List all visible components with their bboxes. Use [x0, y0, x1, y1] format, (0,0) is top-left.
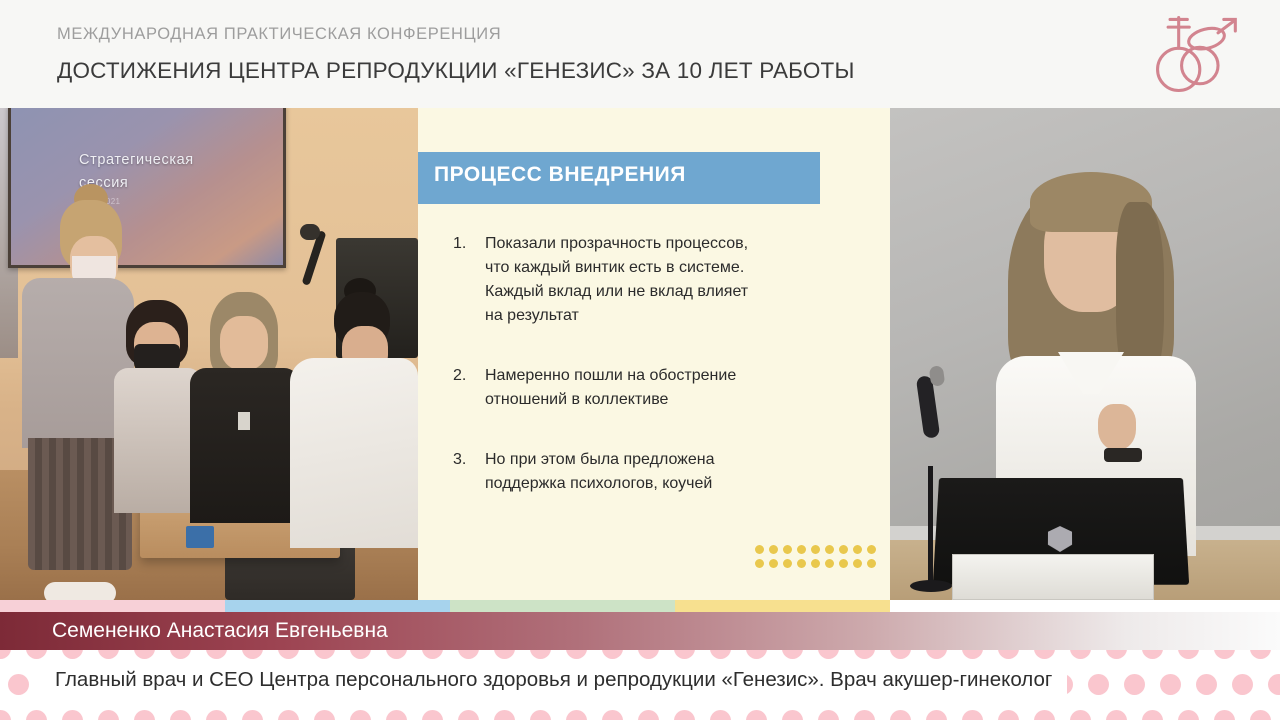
polka-dot [8, 674, 29, 695]
list-item-number: 1. [453, 232, 485, 328]
polka-dot [566, 710, 587, 720]
polka-dot [926, 710, 947, 720]
slide-title: ПРОЦЕСС ВНЕДРЕНИЯ [434, 163, 686, 187]
polka-dot [782, 650, 803, 659]
polka-dot [422, 710, 443, 720]
polka-dot [494, 710, 515, 720]
polka-dot [98, 710, 119, 720]
broadcast-screen: МЕЖДУНАРОДНАЯ ПРАКТИЧЕСКАЯ КОНФЕРЕНЦИЯ Д… [0, 0, 1280, 720]
table-sticker [186, 526, 214, 548]
polka-dot [170, 650, 191, 659]
polka-dot [1106, 650, 1127, 659]
slide-numbered-list: 1. Показали прозрачность процессов, что … [453, 232, 853, 532]
decorative-dot [853, 545, 862, 554]
decorative-dot [783, 545, 792, 554]
polka-dot [1250, 650, 1271, 659]
polka-dot [854, 710, 875, 720]
speaker-title-bar: Главный врач и CEO Центра персонального … [0, 650, 1280, 720]
polka-dot [674, 710, 695, 720]
slide-title-bar: ПРОЦЕСС ВНЕДРЕНИЯ [418, 152, 820, 204]
decorative-dot [839, 545, 848, 554]
polka-dot [1070, 710, 1091, 720]
polka-dot [314, 710, 335, 720]
polka-dot [1088, 674, 1109, 695]
decorative-dot [825, 559, 834, 568]
polka-dot [170, 710, 191, 720]
polka-dot [386, 650, 407, 659]
decorative-dot [797, 545, 806, 554]
polka-dot [314, 650, 335, 659]
decorative-dot [853, 559, 862, 568]
polka-dot [206, 710, 227, 720]
polka-dot [134, 710, 155, 720]
polka-dot [1142, 710, 1163, 720]
gender-symbols-logo-icon [1146, 6, 1244, 102]
polka-dot [530, 710, 551, 720]
decorative-dot [811, 545, 820, 554]
polka-dot [962, 710, 983, 720]
decorative-dot [783, 559, 792, 568]
projector-text-line1: Стратегическая [79, 152, 194, 168]
polka-dot [1178, 710, 1199, 720]
polka-dot [530, 650, 551, 659]
color-strip-segment-1 [225, 600, 450, 612]
polka-dot [602, 650, 623, 659]
polka-dot [1178, 650, 1199, 659]
polka-dot [26, 650, 47, 659]
decorative-dot [867, 545, 876, 554]
decorative-dot [867, 559, 876, 568]
polka-dot [1250, 710, 1271, 720]
list-item-number: 3. [453, 448, 485, 496]
slide-decorative-dots [755, 545, 881, 573]
decorative-dot [839, 559, 848, 568]
polka-dot [854, 650, 875, 659]
polka-dot [746, 710, 767, 720]
list-item-text: Но при этом была предложена поддержка пс… [485, 448, 715, 496]
presentation-slide: ПРОЦЕСС ВНЕДРЕНИЯ 1. Показали прозрачнос… [418, 108, 890, 600]
header-bar: МЕЖДУНАРОДНАЯ ПРАКТИЧЕСКАЯ КОНФЕРЕНЦИЯ Д… [0, 0, 1280, 108]
polka-dot [602, 710, 623, 720]
polka-dot [26, 710, 47, 720]
polka-dot [1124, 674, 1145, 695]
polka-dot [566, 650, 587, 659]
polka-dot [1070, 650, 1091, 659]
polka-dot [242, 650, 263, 659]
polka-dot [710, 710, 731, 720]
polka-dot [278, 710, 299, 720]
polka-dot [494, 650, 515, 659]
speaker-hand [1098, 404, 1136, 450]
polka-dot [674, 650, 695, 659]
polka-dot [1196, 674, 1217, 695]
polka-dot [278, 650, 299, 659]
polka-dot [962, 650, 983, 659]
polka-dot [926, 650, 947, 659]
polka-dot [746, 650, 767, 659]
microphone-base [910, 580, 952, 592]
polka-dot [350, 710, 371, 720]
polka-dot [710, 650, 731, 659]
polka-dot [458, 650, 479, 659]
wrist-watch [1104, 448, 1142, 462]
polka-dot [0, 650, 11, 659]
polka-dot [422, 650, 443, 659]
polka-dot [1160, 674, 1181, 695]
decorative-dot [755, 545, 764, 554]
polka-dot [350, 650, 371, 659]
decorative-dot [769, 545, 778, 554]
laptop-logo-icon [1048, 526, 1072, 552]
polka-dot [1232, 674, 1253, 695]
polka-dot [242, 710, 263, 720]
polka-dot [386, 710, 407, 720]
list-item-text: Показали прозрачность процессов, что каж… [485, 232, 748, 328]
polka-dot [1214, 650, 1235, 659]
conference-room-photo: Стратегическая сессия 2021 [0, 108, 418, 600]
color-strip-segment-0 [0, 600, 225, 612]
speaker-name-bar: Семененко Анастасия Евгеньевна [0, 612, 1280, 650]
decorative-dot [825, 545, 834, 554]
page-title: ДОСТИЖЕНИЯ ЦЕНТРА РЕПРОДУКЦИИ «ГЕНЕЗИС» … [57, 58, 855, 84]
speaker-figure [986, 166, 1198, 526]
polka-dot [1106, 710, 1127, 720]
polka-dot [998, 650, 1019, 659]
polka-dot [890, 710, 911, 720]
list-item: 2. Намеренно пошли на обострение отношен… [453, 364, 853, 412]
polka-dot [638, 650, 659, 659]
color-strip-segment-3 [675, 600, 890, 612]
list-item-number: 2. [453, 364, 485, 412]
polka-dot [62, 650, 83, 659]
polka-dot [206, 650, 227, 659]
content-row: Стратегическая сессия 2021 [0, 108, 1280, 600]
decorative-dot [769, 559, 778, 568]
decorative-dot [755, 559, 764, 568]
polka-dot [1214, 710, 1235, 720]
speaker-podium-video [890, 108, 1280, 600]
polka-dot [98, 650, 119, 659]
polka-dot [818, 710, 839, 720]
list-item-text: Намеренно пошли на обострение отношений … [485, 364, 736, 412]
polka-dot [1034, 650, 1055, 659]
conference-eyebrow: МЕЖДУНАРОДНАЯ ПРАКТИЧЕСКАЯ КОНФЕРЕНЦИЯ [57, 25, 501, 44]
podium-papers [952, 554, 1154, 600]
microphone-stand [928, 466, 933, 584]
person-standing-right [290, 292, 418, 542]
polka-dot [818, 650, 839, 659]
list-item: 3. Но при этом была предложена поддержка… [453, 448, 853, 496]
polka-dot [890, 650, 911, 659]
polka-dot [0, 710, 11, 720]
polka-dot [62, 710, 83, 720]
room-microphone-head [300, 224, 320, 240]
polka-dot [1142, 650, 1163, 659]
decorative-dot [811, 559, 820, 568]
color-accent-strip [0, 600, 890, 612]
speaker-name: Семененко Анастасия Евгеньевна [52, 619, 388, 643]
polka-dot [134, 650, 155, 659]
polka-dot [782, 710, 803, 720]
polka-dot [638, 710, 659, 720]
polka-dot [458, 710, 479, 720]
decorative-dot [797, 559, 806, 568]
person-seated-two [190, 292, 300, 522]
polka-dot [1034, 710, 1055, 720]
list-item: 1. Показали прозрачность процессов, что … [453, 232, 853, 328]
speaker-title: Главный врач и CEO Центра персонального … [55, 668, 1052, 692]
polka-dot [998, 710, 1019, 720]
polka-dot [1268, 674, 1280, 695]
color-strip-segment-2 [450, 600, 675, 612]
